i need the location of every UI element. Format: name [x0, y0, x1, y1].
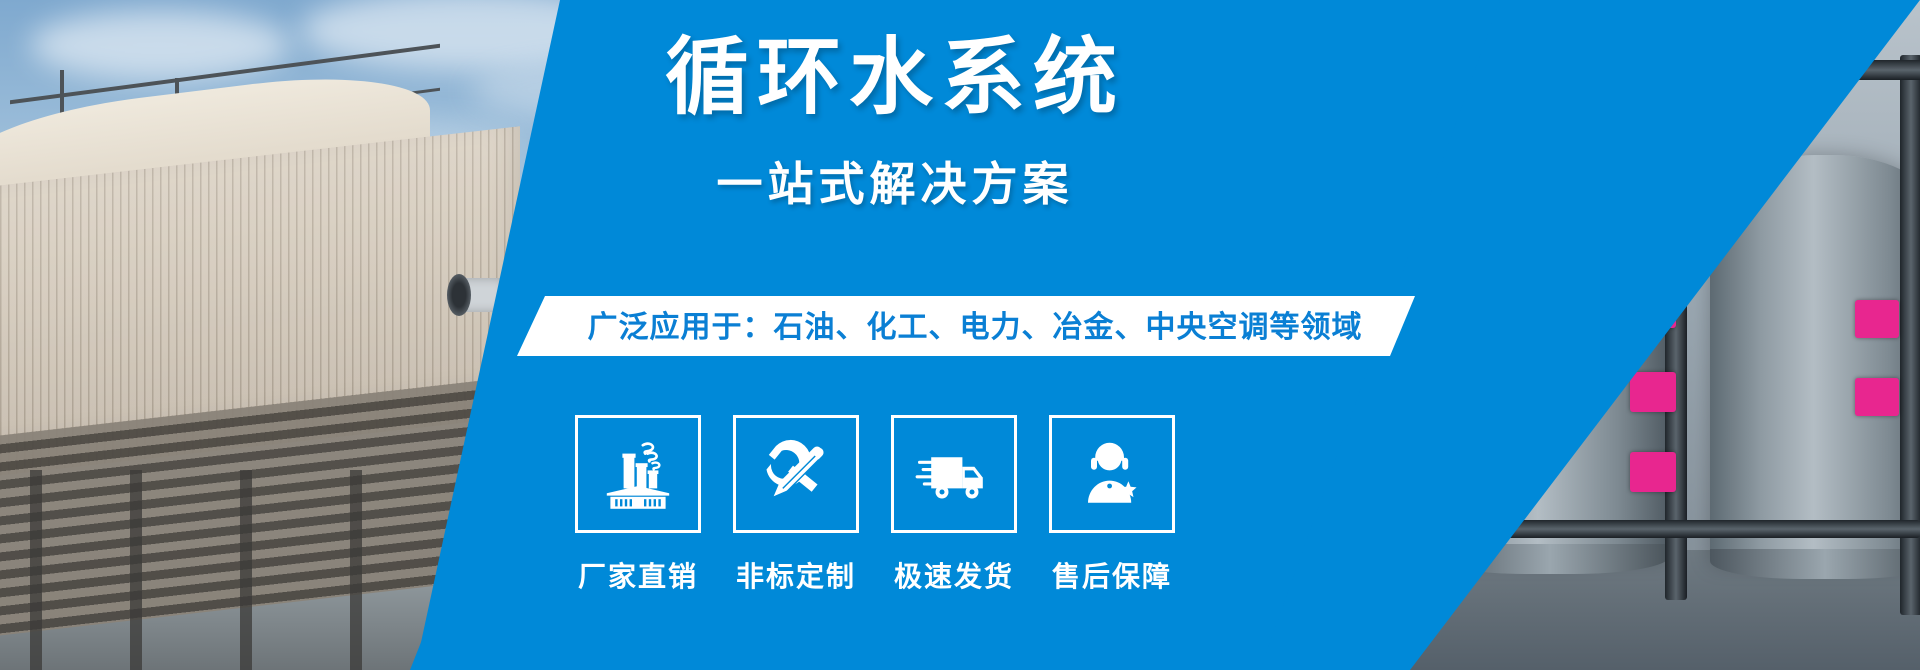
page-title: 循环水系统 — [615, 28, 1175, 127]
page-subtitle: 一站式解决方案 — [615, 148, 1175, 214]
factory-icon — [599, 438, 677, 510]
product-banner: 循环水系统 一站式解决方案 广泛应用于：石油、化工、电力、冶金、中央空调等领域 — [0, 0, 1920, 670]
tower-support-legs — [0, 470, 460, 670]
feature-label: 非标定制 — [736, 555, 856, 595]
feature-label: 厂家直销 — [578, 555, 698, 595]
pink-valve — [1630, 372, 1676, 412]
feature-icon-box — [891, 415, 1017, 533]
feature-icon-box — [1049, 415, 1175, 533]
feature-icon-box — [733, 415, 859, 533]
feature-item-after-sales[interactable]: 售后保障 — [1048, 415, 1176, 595]
feature-item-custom[interactable]: 非标定制 — [732, 415, 860, 595]
truck-icon — [915, 438, 993, 510]
headset-support-icon — [1073, 438, 1151, 510]
feature-item-factory[interactable]: 厂家直销 — [574, 415, 702, 595]
feature-list: 厂家直销 非标定制 — [565, 415, 1185, 595]
pink-valve — [1855, 300, 1899, 338]
feature-label: 极速发货 — [894, 555, 1014, 595]
feature-icon-box — [575, 415, 701, 533]
tools-icon — [757, 438, 835, 510]
pink-valve — [1630, 452, 1676, 492]
feature-label: 售后保障 — [1052, 555, 1172, 595]
feature-item-shipping[interactable]: 极速发货 — [890, 415, 1018, 595]
pink-valve — [1855, 378, 1899, 416]
application-text: 广泛应用于：石油、化工、电力、冶金、中央空调等领域 — [560, 302, 1390, 346]
